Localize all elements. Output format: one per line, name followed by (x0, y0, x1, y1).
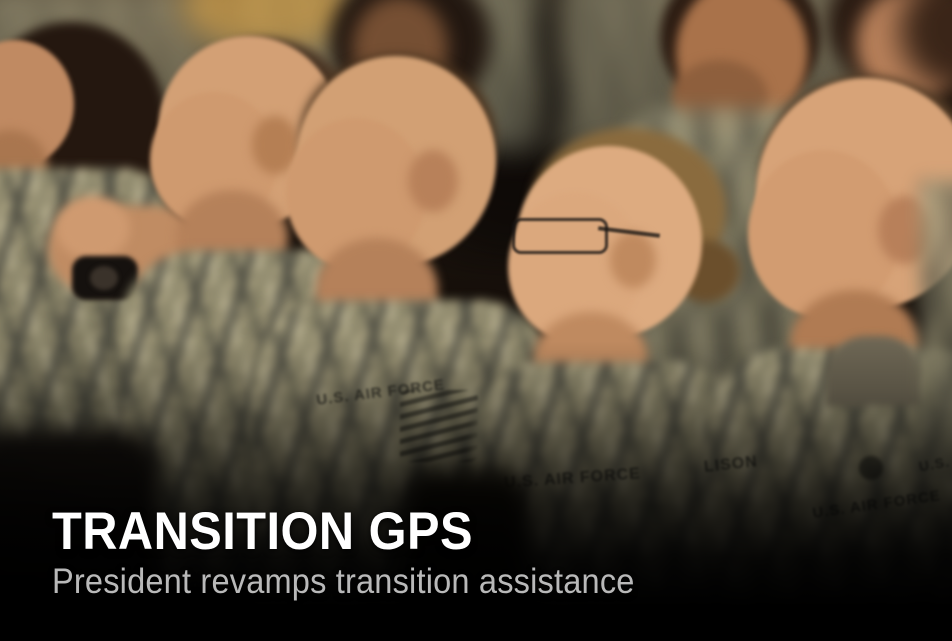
airman5-undershirt (826, 336, 922, 406)
wristwatch-face (90, 266, 118, 290)
subheadline: President revamps transition assistance (52, 563, 635, 601)
eyeglasses-frame (512, 218, 608, 254)
shoulder-insignia (854, 452, 888, 484)
airman3-ear (408, 150, 458, 212)
hand (56, 196, 130, 260)
caption-block: TRANSITION GPS President revamps transit… (52, 505, 678, 601)
woman-airman-ear (610, 232, 656, 288)
headline: TRANSITION GPS (52, 505, 628, 559)
hero-banner: U.S. AIR FORCE U.S. AIR FORCE LISON U.S.… (0, 0, 952, 641)
rank-chevrons (400, 390, 478, 462)
far-right-partial-uniform (920, 180, 952, 480)
